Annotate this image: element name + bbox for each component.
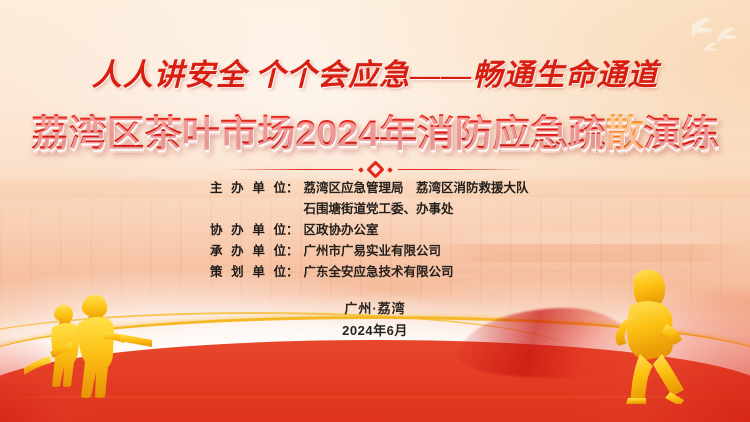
organizer-label: 承办单位	[210, 241, 286, 262]
poster-slogan: 人人讲安全 个个会应急——畅通生命通道	[0, 50, 750, 94]
fire-drill-poster: 人人讲安全 个个会应急——畅通生命通道 荔湾区茶叶市场2024年消防应急疏散演练…	[0, 0, 750, 422]
divider-gem	[366, 160, 384, 178]
divider-dot-right	[387, 167, 393, 173]
divider-rule-right	[398, 169, 526, 171]
event-date: 2024年6月	[0, 320, 750, 339]
organizer-colon: ：	[286, 241, 304, 262]
title-accent: 散	[606, 113, 644, 154]
event-place: 广州·荔湾	[0, 298, 750, 317]
organizer-value: 区政协办公室	[304, 220, 379, 241]
divider-rule-left	[225, 169, 353, 171]
diamond-divider	[0, 163, 750, 176]
title-head: 荔湾区茶叶市场2024年消防应急疏	[31, 113, 606, 154]
organizer-row: 协办单位 ： 区政协办公室	[210, 220, 540, 241]
organizer-value: 石围塘街道党工委、办事处	[304, 199, 454, 220]
organizer-value: 广州市广易实业有限公司	[304, 241, 442, 262]
organizer-row: 策划单位 ： 广东全安应急技术有限公司	[210, 262, 540, 283]
organizer-row: 承办单位 ： 广州市广易实业有限公司	[210, 241, 540, 262]
organizer-label: 协办单位	[210, 220, 286, 241]
organizer-row: 主办单位 ： 石围塘街道党工委、办事处	[210, 199, 540, 220]
organizer-colon: ：	[286, 220, 304, 241]
poster-content: 人人讲安全 个个会应急——畅通生命通道 荔湾区茶叶市场2024年消防应急疏散演练…	[0, 0, 750, 422]
organizer-colon: ：	[286, 262, 304, 283]
organizer-value: 广东全安应急技术有限公司	[304, 262, 454, 283]
organizer-list: 主办单位 ： 荔湾区应急管理局 荔湾区消防救援大队 主办单位 ： 石围塘街道党工…	[0, 178, 750, 283]
organizer-row: 主办单位 ： 荔湾区应急管理局 荔湾区消防救援大队	[210, 178, 540, 199]
divider-dot-left	[358, 167, 364, 173]
organizer-label: 策划单位	[210, 262, 286, 283]
organizer-colon: ：	[286, 178, 304, 199]
title-tail: 演练	[643, 113, 718, 154]
organizer-value: 荔湾区应急管理局 荔湾区消防救援大队	[304, 178, 529, 199]
organizer-label: 主办单位	[210, 178, 286, 199]
page-title: 荔湾区茶叶市场2024年消防应急疏散演练	[0, 103, 750, 157]
